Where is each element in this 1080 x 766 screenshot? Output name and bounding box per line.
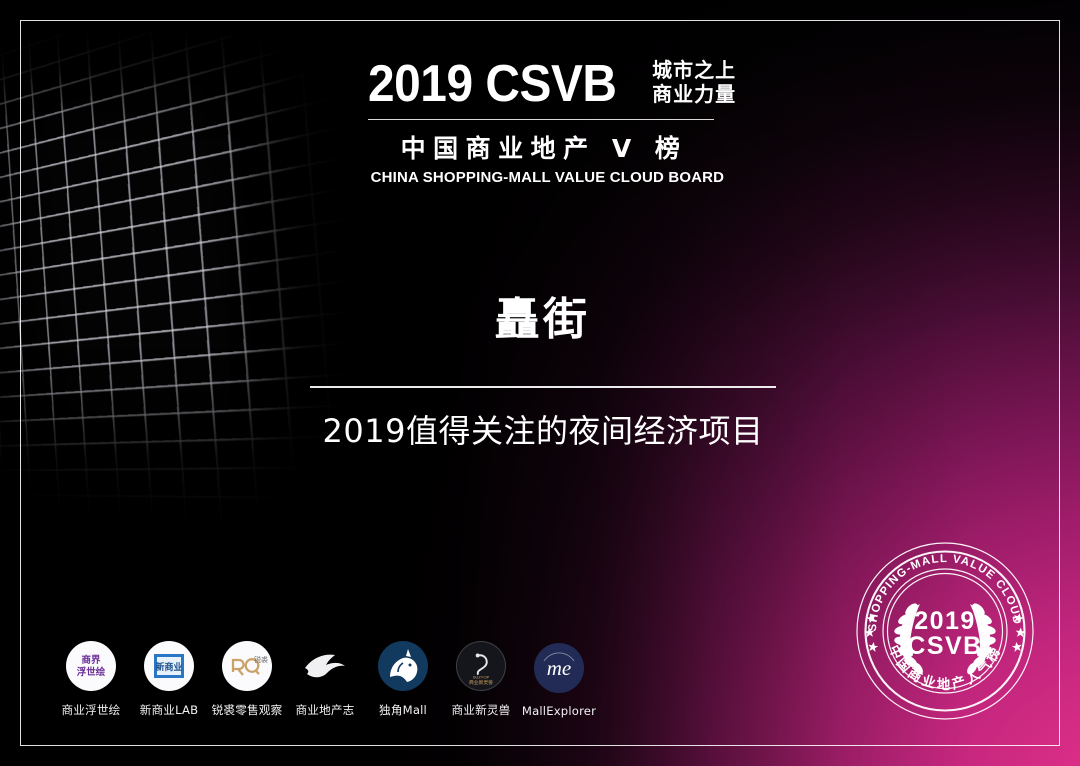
svg-text:商界: 商界: [81, 654, 101, 666]
event-title-chinese: 中国商业地产 V 榜: [368, 129, 714, 165]
partner-logo-label: 商业浮世绘: [62, 702, 121, 718]
partner-mark-shangye-fushihui-icon: 商界浮世绘: [66, 641, 116, 691]
award-poster: 2019 CSVB 城市之上 商业力量 中国商业地产 V 榜 CHINA SHO…: [0, 0, 1080, 766]
partner-mark-shangye-xinlingshou-icon: SUZYOP商业新灵兽: [456, 641, 506, 691]
svg-text:锐裘: 锐裘: [254, 655, 268, 664]
partner-logo-label: 商业新灵兽: [452, 702, 511, 718]
partner-logo-item[interactable]: meMallExplorer: [520, 643, 598, 718]
partner-mark-dujiao-mall-icon: [378, 641, 428, 691]
seal-year: 2019: [914, 607, 976, 635]
svg-text:me: me: [547, 656, 572, 680]
partner-logo-label: MallExplorer: [522, 704, 596, 718]
tagline-line-2: 商业力量: [652, 82, 736, 106]
award-category-name: 2019值得关注的夜间经济项目: [310, 412, 776, 450]
event-tagline: 城市之上 商业力量: [652, 58, 736, 110]
award-seal-badge: CHINA SHOPPING-MALL VALUE CLOUD BOARD 中国…: [854, 540, 1036, 722]
svg-text:商业新灵兽: 商业新灵兽: [469, 679, 493, 686]
logo-top-row: 2019 CSVB 城市之上 商业力量: [368, 58, 714, 110]
partner-logo-item[interactable]: 独角Mall: [364, 641, 442, 718]
event-title-english: CHINA SHOPPING-MALL VALUE CLOUD BOARD: [371, 169, 712, 186]
svg-text:浮世绘: 浮世绘: [77, 666, 106, 678]
svg-text:新商业: 新商业: [155, 661, 182, 673]
partner-logo-item[interactable]: 商业地产志: [286, 641, 364, 718]
partner-logo-item[interactable]: 锐裘锐裘零售观察: [208, 641, 286, 718]
building-fade-right: [230, 28, 360, 548]
partner-logo-label: 独角Mall: [379, 702, 427, 718]
partner-logo-strip: 商界浮世绘商业浮世绘新商业新商业LAB锐裘锐裘零售观察商业地产志独角MallSU…: [52, 641, 598, 718]
partner-logo-item[interactable]: SUZYOP商业新灵兽商业新灵兽: [442, 641, 520, 718]
seal-abbr: CSVB: [907, 632, 982, 660]
building-facade-image: [0, 28, 360, 548]
award-divider-rule: [310, 386, 776, 387]
svg-text:SUZYOP: SUZYOP: [473, 674, 490, 679]
partner-mark-xin-shangye-lab-icon: 新商业: [144, 641, 194, 691]
partner-logo-item[interactable]: 新商业新商业LAB: [130, 641, 208, 718]
event-logo-lockup: 2019 CSVB 城市之上 商业力量 中国商业地产 V 榜 CHINA SHO…: [368, 58, 714, 186]
award-title-block: 矗街 2019值得关注的夜间经济项目: [310, 296, 776, 450]
partner-logo-label: 新商业LAB: [140, 702, 199, 718]
partner-logo-item[interactable]: 商界浮世绘商业浮世绘: [52, 641, 130, 718]
partner-logo-label: 锐裘零售观察: [212, 702, 283, 718]
partner-mark-ruiqiu-lingshou-icon: 锐裘: [222, 641, 272, 691]
logo-divider-rule: [368, 119, 714, 120]
partner-logo-label: 商业地产志: [296, 702, 355, 718]
partner-mark-mallexplorer-icon: me: [534, 643, 584, 693]
partner-mark-shangye-dichanzhi-icon: [300, 641, 350, 691]
tagline-line-1: 城市之上: [652, 58, 736, 82]
event-wordmark: 2019 CSVB: [368, 60, 617, 109]
awarded-project-name: 矗街: [310, 296, 776, 344]
